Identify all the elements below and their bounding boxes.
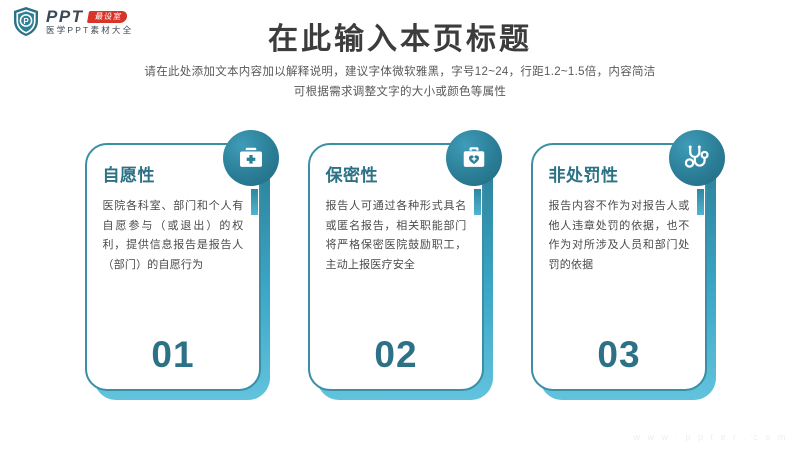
card-number: 02 — [326, 336, 467, 377]
card-heading: 保密性 — [326, 167, 467, 184]
icon-stem — [251, 189, 258, 215]
card-heading: 自愿性 — [103, 167, 244, 184]
card-number: 03 — [549, 336, 690, 377]
site-watermark: w w w . p p t e r . c o m — [633, 432, 788, 442]
card-heading: 非处罚性 — [549, 167, 690, 184]
subtitle-line-2: 可根据需求调整文字的大小或颜色等属性 — [0, 82, 800, 102]
subtitle-line-1: 请在此处添加文本内容加以解释说明，建议字体微软雅黑，字号12~24，行距1.2~… — [0, 62, 800, 82]
stethoscope-icon[interactable] — [669, 130, 725, 186]
card-non-punitive[interactable]: 非处罚性 报告内容不作为对报告人或他人违章处罚的依据，也不作为对所涉及人员和部门… — [531, 143, 716, 400]
card-body: 报告人可通过各种形式具名或匿名报告，相关职能部门将严格保密医院鼓励职工，主动上报… — [326, 197, 467, 275]
card-number: 01 — [103, 336, 244, 377]
cards-container: 自愿性 医院各科室、部门和个人有自愿参与（或退出）的权利，提供信息报告是报告人（… — [0, 143, 800, 400]
icon-stem — [697, 189, 704, 215]
first-aid-kit-icon[interactable] — [223, 130, 279, 186]
icon-stem — [474, 189, 481, 215]
page-subtitle: 请在此处添加文本内容加以解释说明，建议字体微软雅黑，字号12~24，行距1.2~… — [0, 62, 800, 102]
card-confidential[interactable]: 保密性 报告人可通过各种形式具名或匿名报告，相关职能部门将严格保密医院鼓励职工，… — [308, 143, 493, 400]
card-body: 医院各科室、部门和个人有自愿参与（或退出）的权利，提供信息报告是报告人（部门）的… — [103, 197, 244, 275]
page-title: 在此输入本页标题 — [0, 14, 800, 58]
card-body: 报告内容不作为对报告人或他人违章处罚的依据，也不作为对所涉及人员和部门处罚的依据 — [549, 197, 690, 275]
card-voluntary[interactable]: 自愿性 医院各科室、部门和个人有自愿参与（或退出）的权利，提供信息报告是报告人（… — [85, 143, 270, 400]
medical-briefcase-heart-icon[interactable] — [446, 130, 502, 186]
